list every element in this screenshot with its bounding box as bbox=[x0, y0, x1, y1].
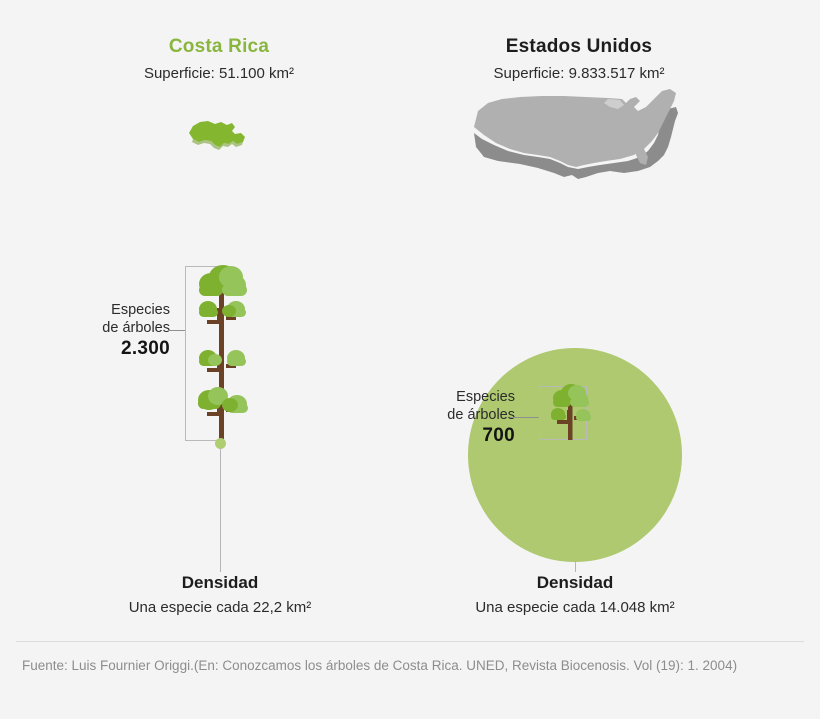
costa-rica-density-title: Densidad bbox=[50, 572, 390, 594]
costa-rica-species-count: 2.300 bbox=[40, 340, 170, 358]
costa-rica-species-line1: Especies bbox=[40, 301, 170, 319]
costa-rica-area-label: Superficie: 51.100 km² bbox=[49, 65, 389, 83]
costa-rica-density: Densidad Una especie cada 22,2 km² bbox=[50, 572, 390, 618]
estados-unidos-species-label: Especies de árboles 700 bbox=[385, 388, 515, 445]
costa-rica-country-name: Costa Rica bbox=[49, 36, 389, 58]
estados-unidos-density-title: Densidad bbox=[405, 572, 745, 594]
estados-unidos-drop-line bbox=[575, 556, 576, 572]
canopy-top bbox=[199, 265, 247, 296]
estados-unidos-area-label: Superficie: 9.833.517 km² bbox=[409, 65, 749, 83]
costa-rica-map-wrap bbox=[175, 100, 275, 166]
costa-rica-density-value: Una especie cada 22,2 km² bbox=[50, 598, 390, 618]
estados-unidos-area-circle bbox=[468, 348, 682, 562]
tree-species-comparison-infographic: Costa Rica Superficie: 51.100 km² Estado… bbox=[0, 0, 820, 719]
estados-unidos-species-count: 700 bbox=[385, 427, 515, 445]
estados-unidos-density: Densidad Una especie cada 14.048 km² bbox=[405, 572, 745, 618]
costa-rica-species-label: Especies de árboles 2.300 bbox=[40, 301, 170, 358]
estados-unidos-country-name: Estados Unidos bbox=[409, 36, 749, 58]
costa-rica-species-line2: de árboles bbox=[40, 319, 170, 337]
united-states-map-icon bbox=[468, 85, 693, 195]
estados-unidos-header: Estados Unidos Superficie: 9.833.517 km² bbox=[409, 36, 749, 83]
footer-divider bbox=[16, 641, 804, 642]
estados-unidos-leader-line bbox=[510, 417, 539, 418]
source-note: Fuente: Luis Fournier Origgi.(En: Conozc… bbox=[22, 657, 802, 675]
estados-unidos-species-line1: Especies bbox=[385, 388, 515, 406]
estados-unidos-density-value: Una especie cada 14.048 km² bbox=[405, 598, 745, 618]
estados-unidos-tree-icon bbox=[545, 384, 597, 442]
canopy-top bbox=[553, 384, 589, 407]
estados-unidos-species-line2: de árboles bbox=[385, 406, 515, 424]
costa-rica-tree-icon bbox=[191, 264, 255, 454]
costa-rica-map-icon bbox=[175, 100, 275, 166]
united-states-map-wrap bbox=[468, 85, 693, 195]
costa-rica-drop-line bbox=[220, 448, 221, 572]
costa-rica-leader-line bbox=[168, 330, 185, 331]
costa-rica-header: Costa Rica Superficie: 51.100 km² bbox=[49, 36, 389, 83]
